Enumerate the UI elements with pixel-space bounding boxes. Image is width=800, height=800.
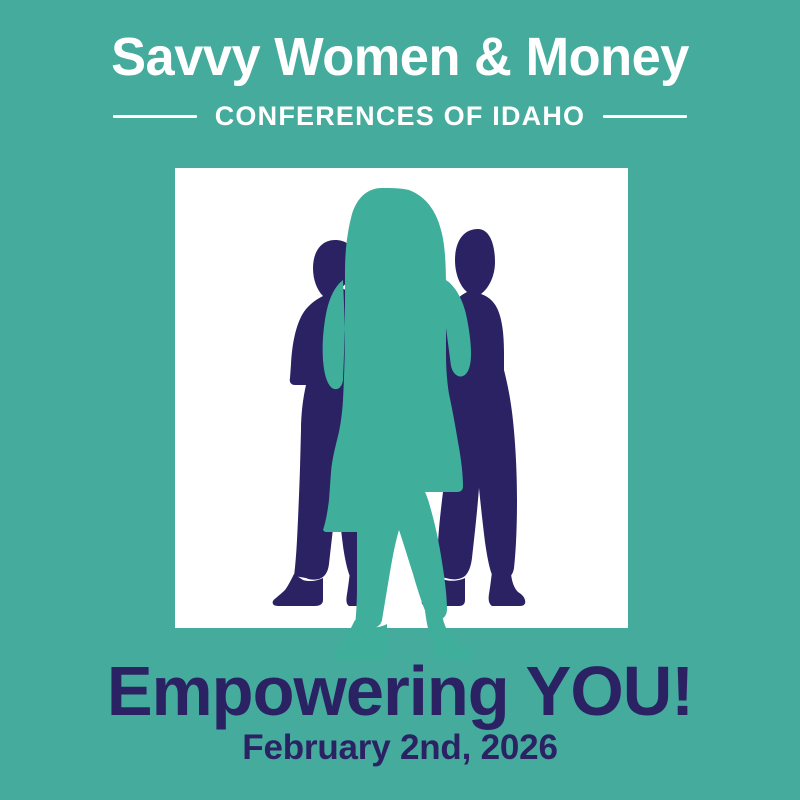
header: Savvy Women & Money CONFERENCES OF IDAHO: [0, 0, 800, 150]
poster-canvas: Savvy Women & Money CONFERENCES OF IDAHO: [0, 0, 800, 800]
divider-rule-left: [113, 115, 197, 118]
artwork-stage: [175, 168, 628, 658]
footer: Empowering YOU! February 2nd, 2026: [0, 652, 800, 800]
event-date: February 2nd, 2026: [0, 728, 800, 768]
headline: Empowering YOU!: [8, 652, 792, 730]
page-title: Savvy Women & Money: [12, 28, 788, 86]
women-silhouettes-illustration: [175, 168, 628, 658]
subtitle-row: CONFERENCES OF IDAHO: [0, 101, 800, 131]
divider-rule-right: [603, 115, 687, 118]
subtitle: CONFERENCES OF IDAHO: [215, 101, 586, 131]
